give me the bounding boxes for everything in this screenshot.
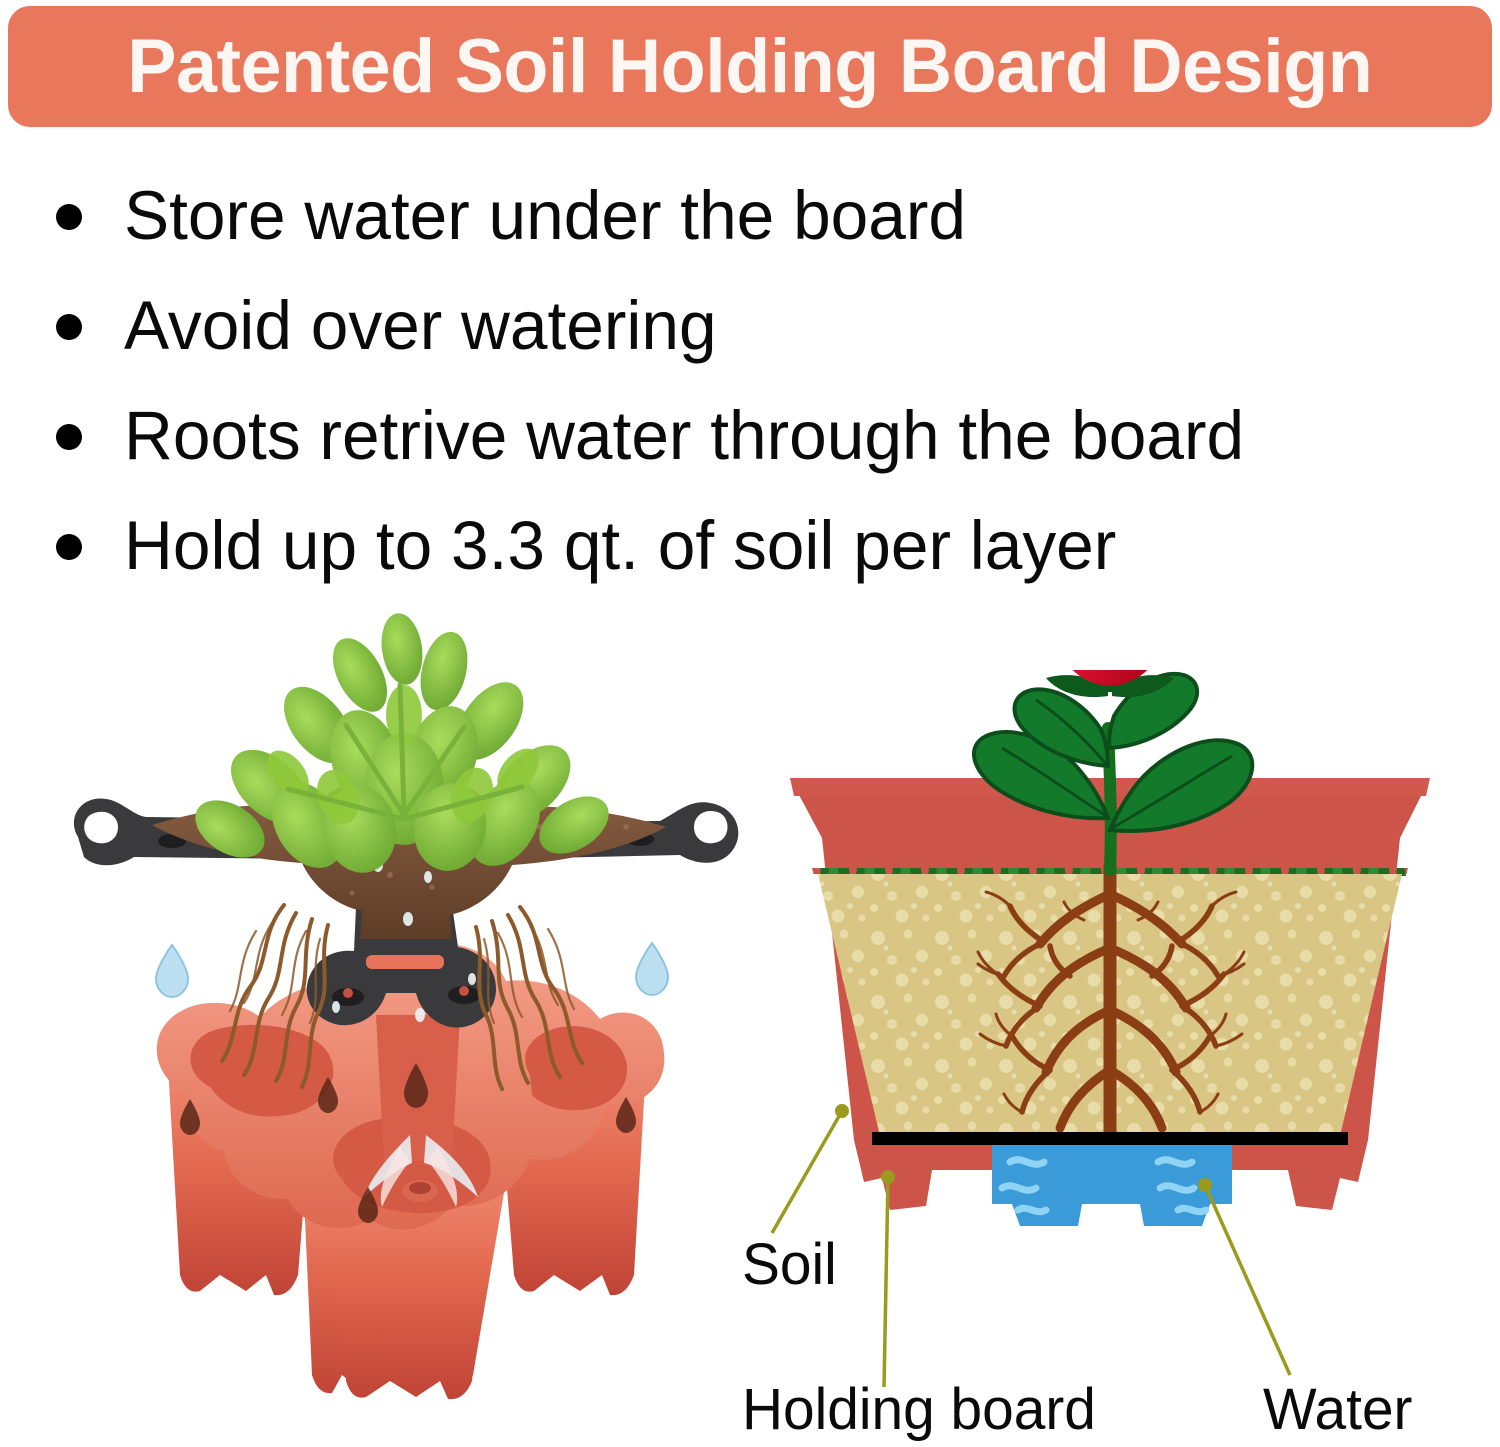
planter-middle-tier	[157, 944, 665, 1399]
list-item: Avoid over watering	[56, 270, 1456, 380]
header-banner: Patented Soil Holding Board Design	[8, 6, 1492, 127]
bullet-dot-icon	[56, 424, 82, 450]
page-title: Patented Soil Holding Board Design	[127, 29, 1372, 105]
stackable-planter-product-photo	[60, 575, 750, 1405]
list-item-label: Store water under the board	[124, 181, 966, 250]
bullet-dot-icon	[56, 204, 82, 230]
list-item: Store water under the board	[56, 160, 1456, 270]
list-item: Roots retrive water through the board	[56, 380, 1456, 490]
water-reservoir	[992, 1140, 1232, 1226]
bullet-dot-icon	[56, 534, 82, 560]
callout-label-holding-board: Holding board	[742, 1381, 1096, 1439]
plant-foliage	[185, 611, 619, 881]
feature-bullet-list: Store water under the board Avoid over w…	[56, 160, 1456, 600]
infographic-page: Patented Soil Holding Board Design Store…	[0, 0, 1500, 1447]
bullet-dot-icon	[56, 314, 82, 340]
holding-board	[872, 1132, 1348, 1145]
callout-label-soil: Soil	[742, 1236, 837, 1294]
callout-label-water: Water	[1263, 1381, 1412, 1439]
pot-cross-section-diagram	[740, 670, 1480, 1410]
list-item-label: Roots retrive water through the board	[124, 401, 1244, 470]
list-item-label: Avoid over watering	[124, 291, 717, 360]
figures-area	[0, 575, 1500, 1447]
list-item-label: Hold up to 3.3 qt. of soil per layer	[124, 511, 1116, 580]
